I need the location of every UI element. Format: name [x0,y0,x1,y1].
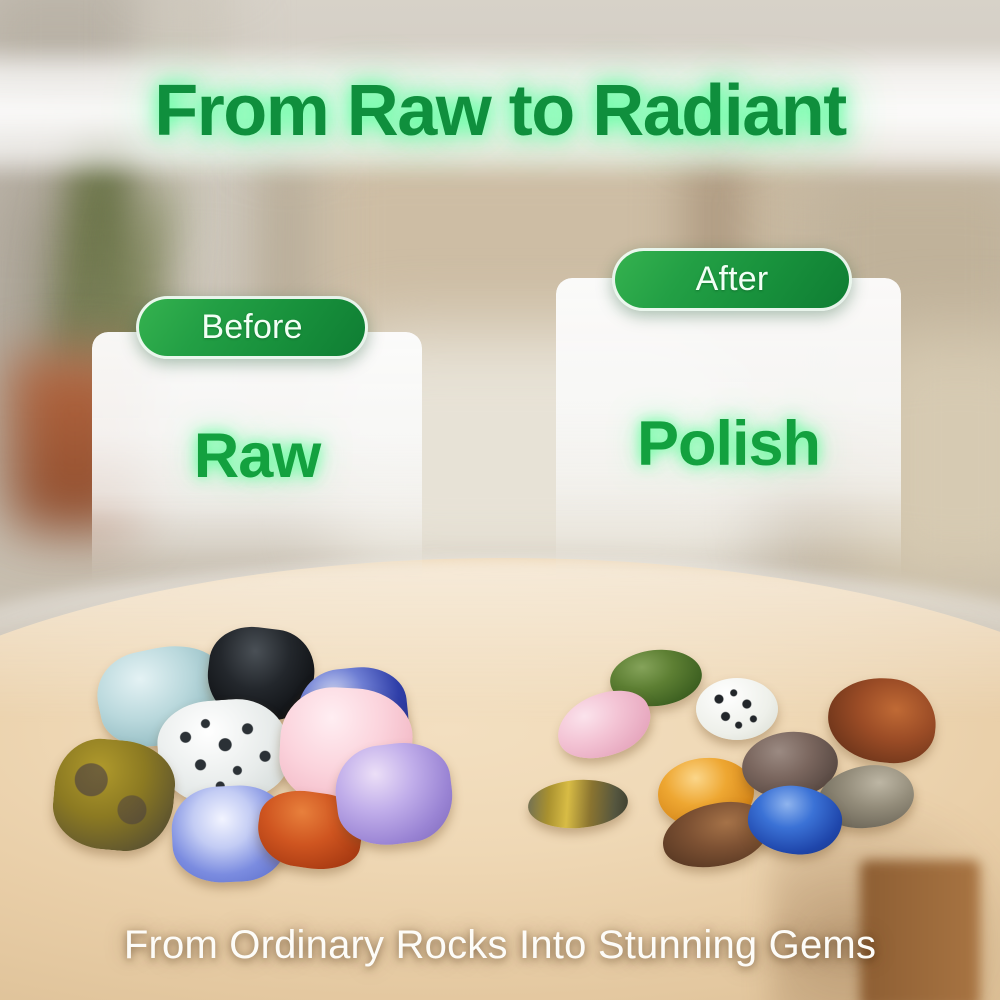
after-card: Polish [556,278,901,590]
polished-stone-tigers-eye [526,777,629,832]
after-badge-label: After [696,260,769,299]
page-title: From Raw to Radiant [0,70,1000,152]
stone-amethyst [330,737,457,850]
polished-stone-lapis-lazuli [745,781,846,858]
before-badge[interactable]: Before [136,296,368,359]
stone-ocean-jasper [49,735,178,855]
after-card-title: Polish [556,408,901,480]
before-card: Raw [92,332,422,590]
promo-image: From Raw to Radiant Raw Before Polish Af… [0,0,1000,1000]
before-card-title: Raw [92,420,422,492]
polished-stone-red-jasper [824,673,940,768]
before-badge-label: Before [201,308,302,347]
after-badge[interactable]: After [612,248,852,311]
polished-stone-dalmatian-jasper [696,678,778,740]
caption-text: From Ordinary Rocks Into Stunning Gems [0,923,1000,968]
